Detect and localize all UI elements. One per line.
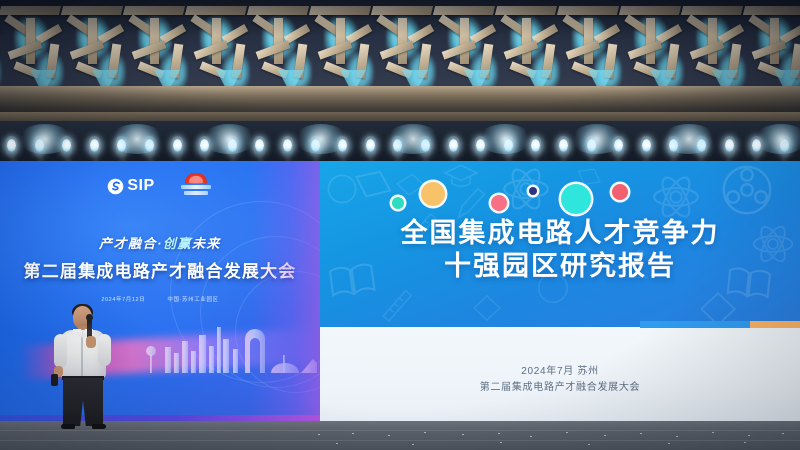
dot-navy-tiny [529, 187, 537, 195]
conference-stage-screenshot: SIP 产才融合·创赢未来 第二届集成电路产才融合发展大会 2024年7月12日… [0, 0, 800, 450]
backdrop-edge-glow [250, 161, 320, 421]
stage-light-row [0, 132, 800, 162]
slogan-post: 未来 [192, 236, 221, 251]
slide-header-panel: 全国集成电路人才竞争力 十强园区研究报告 [320, 161, 800, 327]
slide-footer-panel: 2024年7月 苏州 第二届集成电路产才融合发展大会 [320, 328, 800, 421]
dot-red-mid [612, 184, 628, 200]
presentation-slide: 全国集成电路人才竞争力 十强园区研究报告 2024年7月 苏州 第二届集成电路产… [320, 161, 800, 421]
slogan-pre: 产才融合 [99, 236, 157, 251]
dot-pink-mid [491, 195, 507, 211]
dot-orange-large [421, 182, 445, 206]
bar-blue [640, 321, 750, 328]
speaker-trousers [63, 378, 103, 426]
slide-title: 全国集成电路人才竞争力 十强园区研究报告 [320, 217, 800, 283]
sip-logo-text: SIP [127, 178, 154, 194]
slogan-highlight: 创赢 [163, 236, 192, 251]
stage-floor [0, 421, 800, 450]
speaker [48, 306, 120, 428]
backdrop-date: 2024年7月12日 [101, 297, 145, 303]
park-emblem-logo-icon [179, 173, 213, 199]
slide-footer-line2: 第二届集成电路产才融合发展大会 [320, 380, 800, 396]
slide-footer-text: 2024年7月 苏州 第二届集成电路产才融合发展大会 [320, 364, 800, 396]
wall-trim [0, 112, 800, 121]
backdrop-location: 中国·苏州工业园区 [167, 297, 218, 303]
slide-footer-line1: 2024年7月 苏州 [320, 364, 800, 380]
screen-wall: SIP 产才融合·创赢未来 第二届集成电路产才融合发展大会 2024年7月12日… [0, 161, 800, 421]
bar-orange [750, 321, 800, 328]
speaker-hand-right [86, 336, 96, 348]
sip-logo: SIP [107, 178, 154, 195]
slide-title-line1: 全国集成电路人才竞争力 [320, 217, 800, 250]
dot-cyan-large [561, 184, 591, 214]
ceiling [0, 0, 800, 120]
speaker-clicker [51, 374, 58, 386]
dot-teal-small [392, 197, 404, 209]
slide-title-line2: 十强园区研究报告 [320, 250, 800, 283]
sip-s-mark-icon [107, 178, 124, 195]
